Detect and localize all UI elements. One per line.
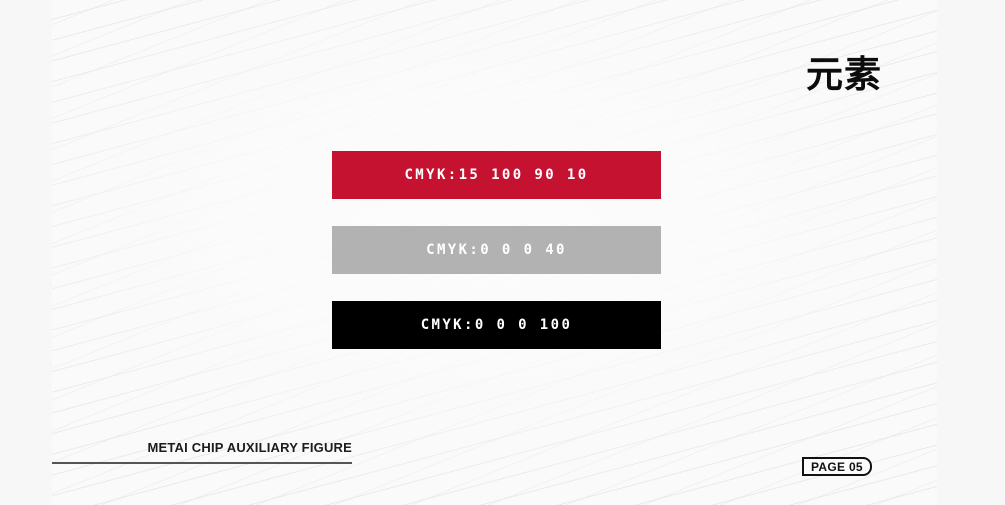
- footer-divider: [52, 462, 352, 464]
- color-swatch-label: CMYK:0 0 0 100: [421, 317, 573, 333]
- page-number-label: PAGE 05: [811, 461, 863, 473]
- page-number-badge: PAGE 05: [802, 457, 872, 476]
- color-swatch-neutral-gray[interactable]: CMYK:0 0 0 40: [332, 226, 661, 274]
- page-title: 元素: [806, 56, 882, 93]
- color-swatch-list: CMYK:15 100 90 10 CMYK:0 0 0 40 CMYK:0 0…: [332, 151, 661, 349]
- color-swatch-label: CMYK:0 0 0 40: [426, 242, 567, 258]
- footer-title: METAI CHIP AUXILIARY FIGURE: [52, 440, 352, 455]
- color-swatch-neutral-black[interactable]: CMYK:0 0 0 100: [332, 301, 661, 349]
- slide-content: 元素 CMYK:15 100 90 10 CMYK:0 0 0 40 CMYK:…: [52, 0, 937, 505]
- color-swatch-label: CMYK:15 100 90 10: [404, 167, 588, 183]
- slide-canvas: 元素 CMYK:15 100 90 10 CMYK:0 0 0 40 CMYK:…: [52, 0, 937, 505]
- color-swatch-brand-red[interactable]: CMYK:15 100 90 10: [332, 151, 661, 199]
